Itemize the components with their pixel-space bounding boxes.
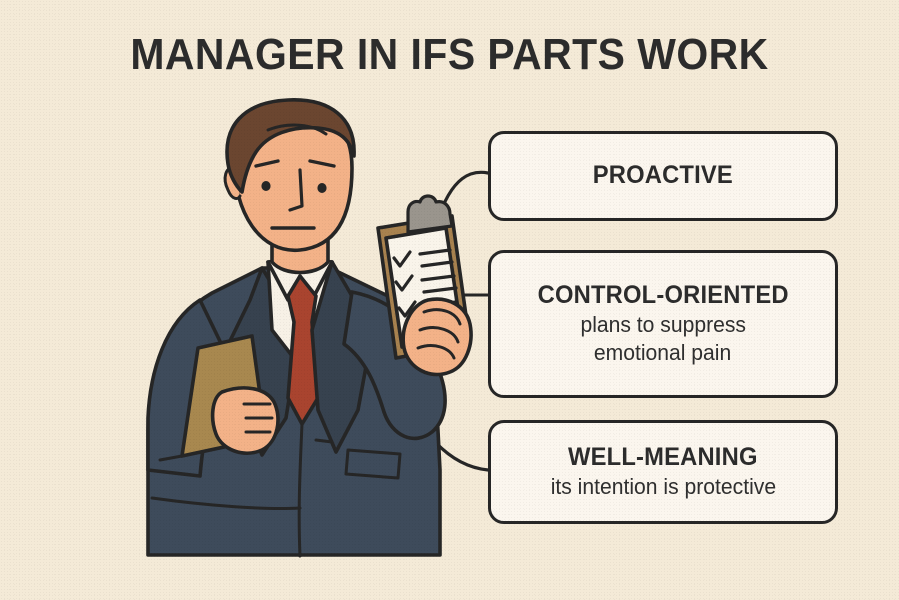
card-well-meaning-title: WELL-MEANING <box>568 444 758 472</box>
card-well-meaning[interactable]: WELL-MEANING its intention is protective <box>488 420 838 524</box>
card-control-oriented-subtitle-line-2: emotional pain <box>594 340 731 366</box>
card-control-oriented[interactable]: CONTROL-ORIENTED plans to suppress emoti… <box>488 250 838 398</box>
left-hand <box>213 388 278 453</box>
right-hand <box>403 299 471 374</box>
card-well-meaning-subtitle-line-1: its intention is protective <box>550 474 775 500</box>
infographic-canvas: MANAGER IN IFS PARTS WORK PROACTIVE CONT… <box>0 0 899 600</box>
card-proactive[interactable]: PROACTIVE <box>488 131 838 221</box>
card-control-oriented-subtitle-line-1: plans to suppress <box>580 312 746 338</box>
card-control-oriented-title: CONTROL-ORIENTED <box>537 282 788 310</box>
page-title: MANAGER IN IFS PARTS WORK <box>31 30 867 80</box>
head <box>225 100 354 273</box>
card-proactive-title: PROACTIVE <box>593 162 733 190</box>
